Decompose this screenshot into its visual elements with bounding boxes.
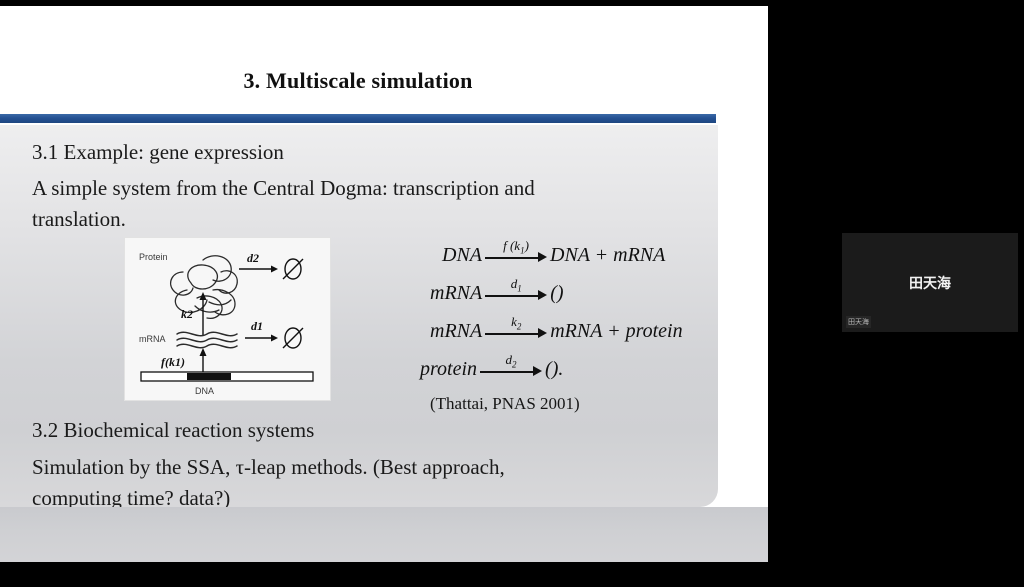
equation-1-arrow: f (k1) xyxy=(485,245,547,265)
video-participant-tile[interactable]: 田天海 田天海 xyxy=(842,233,1018,332)
arrow-shaft xyxy=(480,371,536,373)
equation-4-rhs: (). xyxy=(545,358,563,381)
page-title: 3. Multiscale simulation xyxy=(0,68,716,94)
equation-3-lhs: mRNA xyxy=(430,320,482,343)
equation-row-2: mRNA d1 () xyxy=(418,274,718,312)
arrow-head xyxy=(538,328,547,338)
section-3-2-text-line-1: Simulation by the SSA, τ-leap methods. (… xyxy=(32,455,505,480)
equation-3-rhs: mRNA + protein xyxy=(550,320,682,343)
figure-rate-fk1: f(k1) xyxy=(161,355,185,369)
equation-row-1: DNA f (k1) DNA + mRNA xyxy=(418,236,718,274)
figure-rate-k2: k2 xyxy=(181,307,193,321)
equation-2-arrow: d1 xyxy=(485,283,547,303)
figure-label-dna: DNA xyxy=(195,386,214,396)
arrow-shaft xyxy=(485,295,541,297)
equation-3-arrow: k2 xyxy=(485,321,547,341)
equation-4-rate: d2 xyxy=(506,352,517,370)
reaction-equations: DNA f (k1) DNA + mRNA mRNA d1 () mRNA k2 xyxy=(418,236,718,388)
gene-expression-figure: Protein d2 xyxy=(125,238,330,400)
section-3-1-text-line-1: A simple system from the Central Dogma: … xyxy=(32,176,535,201)
figure-rate-d2: d2 xyxy=(247,251,259,265)
equation-2-rhs: () xyxy=(550,282,563,305)
section-3-2-heading: 3.2 Biochemical reaction systems xyxy=(32,418,314,443)
arrow-shaft xyxy=(485,257,541,259)
slide-footer: MONASHUniversity www.monash.edu.au 33 xyxy=(0,507,768,562)
equation-4-lhs: protein xyxy=(420,358,477,381)
section-3-1-heading: 3.1 Example: gene expression xyxy=(32,140,284,165)
figure-dna-strand xyxy=(141,372,313,381)
arrow-shaft xyxy=(485,333,541,335)
section-3-1-text-line-2: translation. xyxy=(32,207,126,232)
title-divider xyxy=(0,114,716,123)
equation-4-arrow: d2 xyxy=(480,359,542,379)
figure-label-protein: Protein xyxy=(139,252,168,262)
equation-row-3: mRNA k2 mRNA + protein xyxy=(418,312,718,350)
equation-1-rhs: DNA + mRNA xyxy=(550,244,665,267)
shared-slide-region: 3. Multiscale simulation 3.1 Example: ge… xyxy=(0,6,768,562)
equation-3-rate: k2 xyxy=(511,314,521,332)
arrow-head xyxy=(533,366,542,376)
equation-2-lhs: mRNA xyxy=(430,282,482,305)
equation-1-rate: f (k1) xyxy=(503,238,529,256)
gene-expression-diagram: Protein d2 xyxy=(125,238,330,400)
participant-name-badge: 田天海 xyxy=(846,316,871,328)
arrow-head xyxy=(538,290,547,300)
citation-text: (Thattai, PNAS 2001) xyxy=(430,394,580,414)
equation-2-rate: d1 xyxy=(511,276,522,294)
arrow-head xyxy=(538,252,547,262)
equation-row-4: protein d2 (). xyxy=(418,350,718,388)
equation-1-lhs: DNA xyxy=(442,244,482,267)
figure-rate-d1: d1 xyxy=(251,319,263,333)
figure-label-mrna: mRNA xyxy=(139,334,166,344)
